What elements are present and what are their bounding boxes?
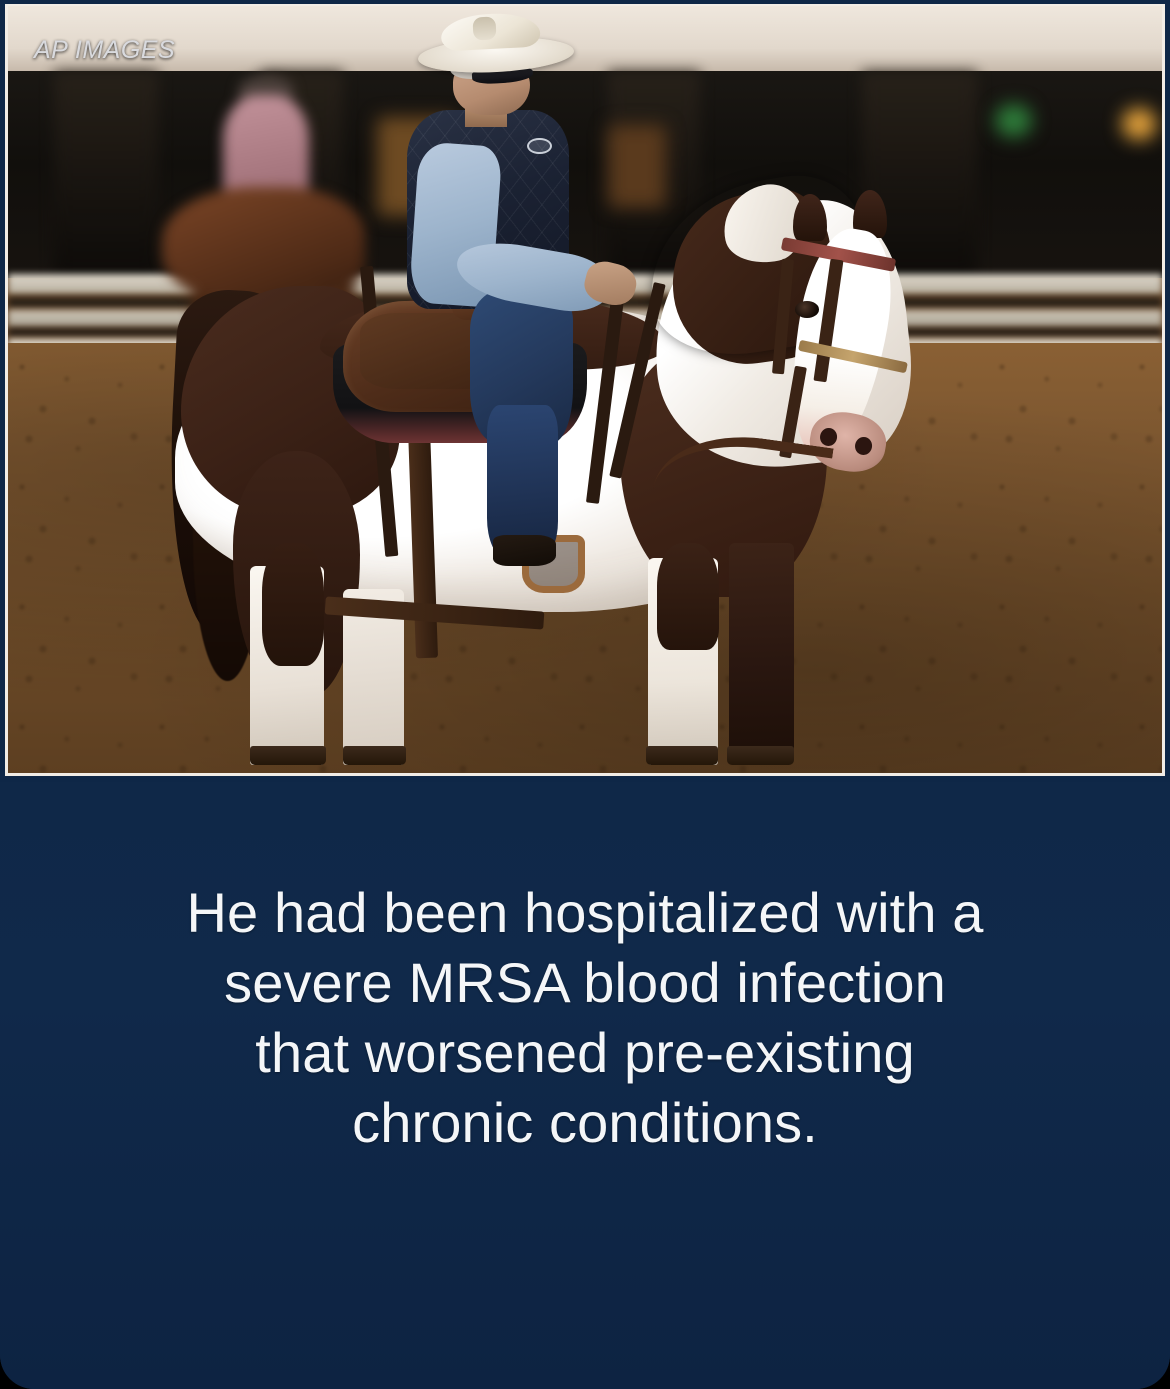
- ap-images-watermark: AP IMAGES: [34, 36, 175, 65]
- caption-panel: He had been hospitalized with a severe M…: [0, 782, 1170, 1389]
- vest-logo-icon: [527, 138, 551, 154]
- media-card: AP IMAGES He had been hospitalized with …: [0, 0, 1170, 1389]
- news-photo: AP IMAGES: [5, 4, 1165, 776]
- photo-scene: AP IMAGES: [8, 6, 1162, 773]
- caption-text: He had been hospitalized with a severe M…: [85, 878, 1085, 1158]
- photo-container: AP IMAGES: [0, 0, 1170, 782]
- rider-boot: [493, 535, 556, 566]
- horse-rider: [8, 6, 1162, 773]
